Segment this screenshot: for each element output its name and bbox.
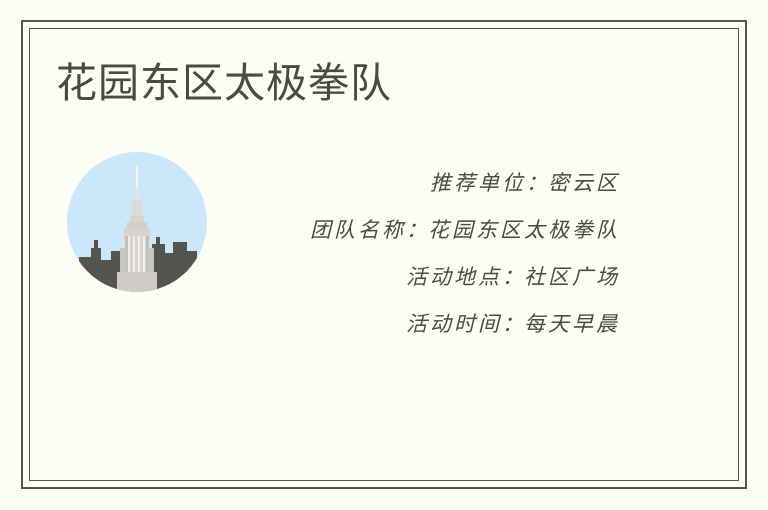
info-value: 社区广场 (524, 265, 620, 289)
info-label: 活动地点 (406, 265, 502, 289)
info-separator: ： (502, 265, 524, 289)
info-line-team-name: 团队名称：花园东区太极拳队 (215, 207, 620, 254)
certificate-card: 花园东区太极拳队 (0, 0, 768, 510)
info-separator: ： (526, 171, 548, 195)
info-separator: ： (502, 312, 524, 336)
info-block: 推荐单位：密云区 团队名称：花园东区太极拳队 活动地点：社区广场 活动时间：每天… (215, 160, 620, 348)
city-skyline-tower-icon (67, 152, 207, 292)
info-value: 每天早晨 (524, 312, 620, 336)
info-value: 花园东区太极拳队 (428, 218, 620, 242)
info-line-activity-time: 活动时间：每天早晨 (215, 301, 620, 348)
info-label: 团队名称 (310, 218, 406, 242)
info-separator: ： (406, 218, 428, 242)
info-line-activity-location: 活动地点：社区广场 (215, 254, 620, 301)
info-label: 推荐单位 (430, 171, 526, 195)
info-line-recommending-unit: 推荐单位：密云区 (215, 160, 620, 207)
info-value: 密云区 (548, 171, 620, 195)
page-title: 花园东区太极拳队 (56, 58, 392, 108)
info-label: 活动时间 (406, 312, 502, 336)
